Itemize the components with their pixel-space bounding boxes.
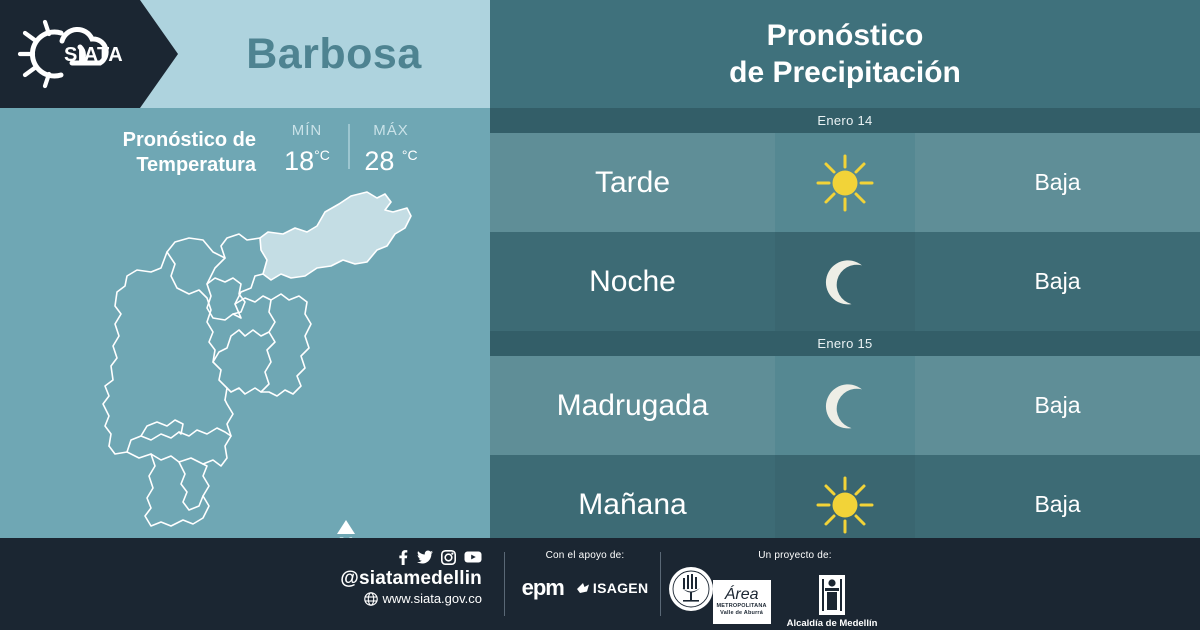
area-wordmark: Área	[725, 587, 759, 603]
weather-forecast-infographic: SIATA Barbosa Pronóstico de Temperatura …	[0, 0, 1200, 630]
footer-divider-1	[504, 552, 505, 616]
twitter-icon[interactable]	[417, 550, 433, 565]
footer: @siatamedellin www.siata.gov.co Con el a…	[0, 538, 1200, 630]
support-caption: Con el apoyo de:	[510, 550, 660, 561]
isagen-mark-icon	[576, 582, 590, 595]
area-metropolitana-logo: Área METROPOLITANA Valle de Aburrá	[713, 580, 771, 624]
temperature-min-value: 18	[284, 146, 314, 176]
forecast-period: Noche	[490, 232, 775, 331]
north-arrow-icon	[337, 520, 355, 534]
forecast-table: Enero 14 Tarde	[490, 108, 1200, 554]
universidad-antioquia-seal-icon	[668, 566, 714, 612]
sun-icon	[814, 152, 876, 214]
temperature-values: MÍN 18°C MÁX 28 °C	[270, 122, 428, 177]
instagram-icon[interactable]	[441, 550, 456, 565]
temperature-min-unit: °C	[314, 147, 330, 163]
temperature-min: MÍN 18°C	[270, 122, 344, 177]
date-band-day1: Enero 14	[490, 108, 1200, 133]
temperature-max-reading: 28 °C	[364, 140, 417, 177]
temperature-title: Pronóstico de Temperatura	[60, 122, 256, 178]
weather-icon-cell	[775, 232, 915, 331]
weather-icon-cell	[775, 133, 915, 232]
social-block: @siatamedellin www.siata.gov.co	[330, 550, 482, 608]
left-panel: SIATA Barbosa Pronóstico de Temperatura …	[0, 0, 490, 538]
temperature-title-line1: Pronóstico de	[123, 129, 256, 151]
precipitation-level: Baja	[915, 356, 1200, 455]
precipitation-level: Baja	[915, 232, 1200, 331]
temperature-title-line2: Temperatura	[136, 154, 256, 176]
project-block: Un proyecto de: Área METROPOLITANA Valle…	[700, 550, 890, 629]
alcaldia-label: Alcaldía de Medellín	[787, 618, 878, 629]
temperature-min-reading: 18°C	[284, 140, 330, 177]
website-line[interactable]: www.siata.gov.co	[330, 590, 482, 608]
valle-de-aburra-map: N	[55, 190, 445, 535]
isagen-wordmark: ISAGEN	[593, 580, 648, 596]
project-logos: Área METROPOLITANA Valle de Aburrá	[700, 575, 890, 629]
forecast-title: Pronóstico de Precipitación	[729, 17, 961, 91]
forecast-title-line1: Pronóstico	[767, 19, 924, 52]
temperature-max: MÁX 28 °C	[354, 122, 428, 177]
alcaldia-medellin-logo: Alcaldía de Medellín	[787, 575, 878, 629]
precipitation-level: Baja	[915, 133, 1200, 232]
sponsor-row: epm ISAGEN	[510, 575, 660, 601]
area-label-line2: Valle de Aburrá	[720, 610, 763, 617]
forecast-row[interactable]: Madrugada Baja	[490, 356, 1200, 455]
area-label-line1: METROPOLITANA	[717, 603, 767, 610]
alcaldia-crest-icon	[819, 575, 845, 615]
forecast-title-line2: de Precipitación	[729, 56, 961, 89]
moon-icon	[818, 255, 872, 309]
left-header-band: SIATA Barbosa	[0, 0, 490, 108]
isagen-logo: ISAGEN	[576, 580, 648, 596]
city-title: Barbosa	[178, 0, 490, 108]
forecast-row[interactable]: Noche Baja	[490, 232, 1200, 331]
project-caption: Un proyecto de:	[700, 550, 890, 561]
facebook-icon[interactable]	[396, 550, 409, 565]
temperature-block: Pronóstico de Temperatura MÍN 18°C MÁX 2…	[60, 122, 440, 184]
temperature-max-value: 28	[364, 146, 394, 176]
temperature-max-unit: °C	[402, 147, 418, 163]
siata-logo-badge: SIATA	[0, 0, 178, 108]
forecast-period: Madrugada	[490, 356, 775, 455]
support-block: Con el apoyo de: epm ISAGEN	[510, 550, 660, 601]
date-band-day2: Enero 15	[490, 331, 1200, 356]
footer-divider-2	[660, 552, 661, 616]
forecast-period: Tarde	[490, 133, 775, 232]
map-region-barbosa-highlighted	[260, 192, 411, 280]
right-header-band: Pronóstico de Precipitación	[490, 0, 1200, 108]
social-handle[interactable]: @siatamedellin	[330, 567, 482, 590]
temperature-divider	[348, 124, 350, 169]
map-region-outlines	[103, 234, 311, 526]
weather-icon-cell	[775, 356, 915, 455]
website-url: www.siata.gov.co	[383, 590, 482, 608]
epm-logo: epm	[522, 575, 564, 601]
temperature-min-label: MÍN	[292, 122, 323, 140]
globe-icon	[364, 592, 378, 606]
temperature-max-label: MÁX	[373, 122, 409, 140]
right-panel: Pronóstico de Precipitación Enero 14 Tar…	[490, 0, 1200, 538]
moon-icon	[818, 379, 872, 433]
map-svg	[55, 190, 445, 535]
social-icons	[330, 550, 482, 565]
youtube-icon[interactable]	[464, 550, 482, 564]
forecast-row[interactable]: Tarde	[490, 133, 1200, 232]
siata-logo-text: SIATA	[64, 44, 123, 66]
sun-icon	[814, 474, 876, 536]
sun-cloud-icon: SIATA	[14, 17, 126, 91]
